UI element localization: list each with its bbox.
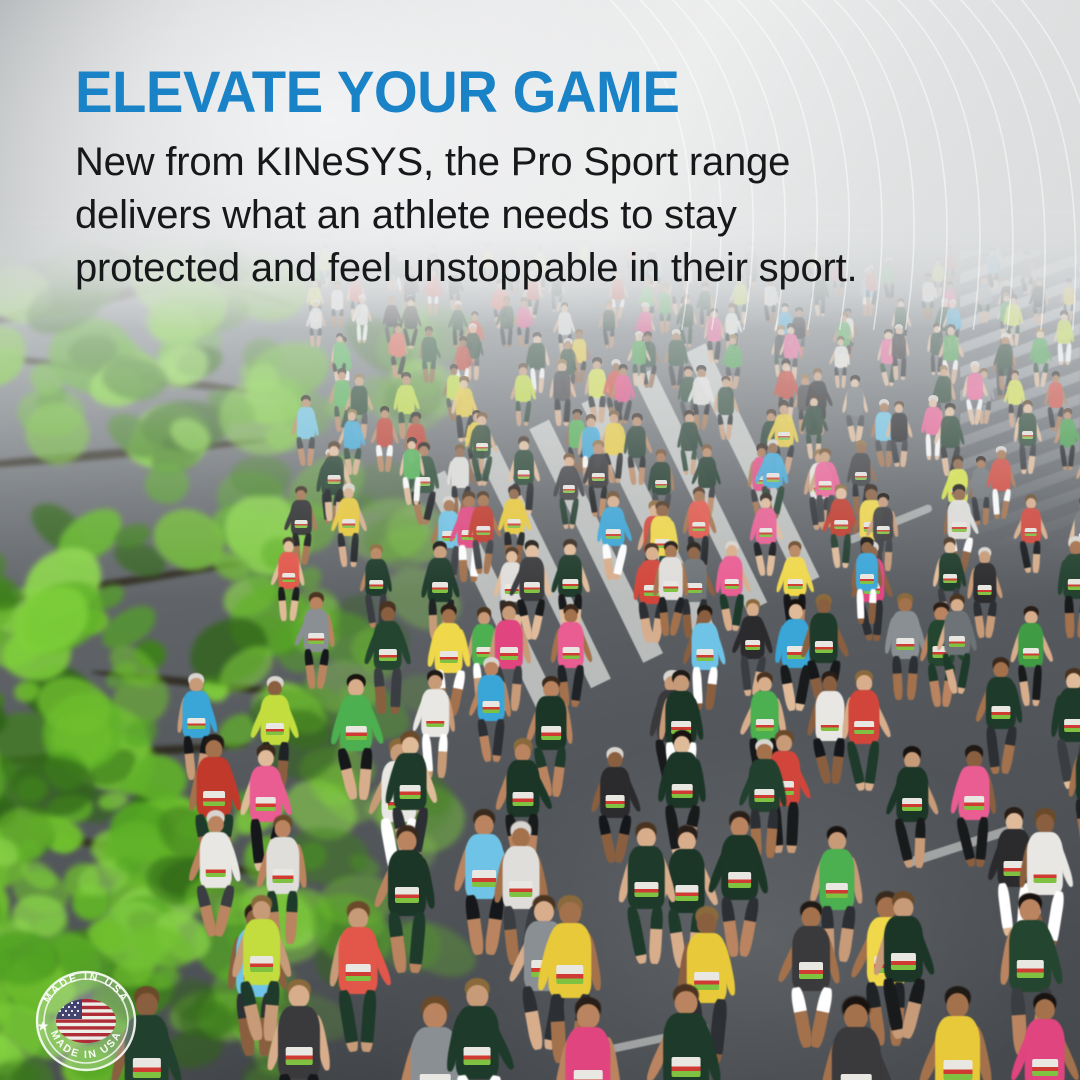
runner-shirt [998,344,1012,369]
runner-shirt [422,337,437,362]
runner-shirt [504,499,524,534]
runner-leg [857,589,866,625]
race-bib [663,581,679,592]
runner-shirt [939,553,961,591]
runner-leg [303,649,316,689]
runner-head [828,832,846,851]
race-bib [606,529,620,539]
runner-leg [627,456,637,486]
runner-leg [914,818,926,869]
race-bib [854,721,874,735]
runner-leg [602,329,609,349]
runner-shirt [243,919,281,984]
runner-shirt [388,850,426,916]
runner-leg [625,905,648,965]
runner-leg [1032,665,1043,706]
race-bib [483,701,500,713]
runner-shirt [183,691,210,738]
runner-shirt [554,371,571,401]
runner-head [894,898,913,919]
runner-shirt [691,623,718,670]
runner-leg [658,597,670,637]
race-bib [728,872,752,888]
runner-shirt [1033,286,1045,307]
runner-leg [408,911,426,973]
runner [711,378,740,450]
runner-leg [1068,445,1076,471]
runner [509,365,537,434]
runner-leg [337,309,343,328]
runner-shirt [266,837,299,895]
race-bib [500,647,518,659]
runner-head [946,993,969,1018]
runner-head [559,902,581,925]
runner-shirt [519,557,544,601]
runner-leg [337,533,349,568]
race-bib [464,1047,491,1065]
runner-shirt [434,623,463,673]
runner-shirt [1060,419,1076,446]
race-bib [574,1070,603,1080]
race-bib [745,640,761,651]
race-bib [692,522,705,531]
runner-shirt [628,846,664,909]
runner-leg [332,309,337,328]
runner-shirt [515,375,531,402]
runner-leg [900,440,908,467]
runner-shirt [967,373,983,401]
runner-shirt [726,313,739,335]
runner-leg [716,414,726,441]
runner-leg [984,600,997,638]
ad-copy: ELEVATE YOUR GAME New from KINeSYS, the … [75,62,1005,295]
runner-leg [854,415,864,442]
runner-leg [523,400,532,426]
runner-shirt [197,757,232,817]
runner-leg [659,312,664,332]
runner [840,377,870,451]
runner-leg [814,298,820,316]
race-bib [778,432,790,440]
runner-shirt [615,375,630,401]
runner-leg [726,414,734,440]
race-bib [855,472,867,480]
runner-shirt [1009,920,1051,992]
runner-shirt [666,752,698,808]
runner-shirt [632,341,646,365]
runner-head [674,736,690,754]
race-bib [815,641,833,653]
race-bib [250,956,274,972]
runner-leg [421,360,429,384]
race-bib [1017,960,1043,978]
runner-shirt [784,557,807,597]
runner [645,986,727,1080]
race-bib [346,964,371,981]
race-bib [964,796,984,809]
runner-head [348,679,364,696]
runner-shirt [652,462,671,494]
race-bib [309,633,325,644]
runner-head [801,907,820,927]
runner [261,981,337,1080]
race-bib [563,485,575,493]
race-bib [282,573,296,582]
body-line-2: delivers what an athlete needs to stay [75,189,1005,242]
runner-leg [1058,343,1064,365]
runner-leg [310,327,315,346]
runner-shirt [291,500,311,535]
runner-leg [649,905,664,964]
runner-shirt [848,690,879,744]
race-bib [897,638,914,650]
runner-leg [517,327,524,347]
race-bib [203,791,225,806]
runner-arm [1075,455,1080,479]
race-bib [1032,1059,1058,1077]
runner-shirt [1021,259,1032,278]
ad-creative: ELEVATE YOUR GAME New from KINeSYS, the … [0,0,1080,1080]
runner-leg [356,323,361,343]
runner-leg [551,746,568,797]
runner-leg [1059,445,1068,471]
runner-leg [610,329,615,349]
runner-leg [1038,305,1046,325]
race-bib [891,953,915,970]
body-copy: New from KINeSYS, the Pro Sport range de… [75,136,1005,295]
runner-leg [890,440,900,467]
runner-shirt [456,1006,499,1080]
runner-leg [385,445,394,472]
runner [1052,312,1077,372]
race-bib [427,715,444,727]
race-bib [562,647,579,658]
race-bib [766,473,779,482]
runner-shirt [992,459,1011,491]
runner-leg [845,415,856,442]
race-bib [370,580,384,589]
runner-leg [476,718,492,762]
runner-shirt [1033,338,1048,364]
runner-shirt [373,621,402,671]
runner-leg [680,449,690,476]
runner-shirt [698,457,716,488]
runner-leg [1065,343,1071,365]
race-bib [524,582,540,593]
race-bib [512,792,533,806]
runner-head [258,750,274,768]
runner-shirt [1063,554,1080,599]
race-bib [672,784,693,798]
runner-head [402,737,418,755]
runner-leg [1028,443,1038,473]
runner-leg [296,437,307,466]
runner-leg [362,323,368,343]
made-in-usa-badge: MADE IN USA MADE IN USA [27,962,145,1080]
runner-leg [812,738,832,785]
race-bib [592,473,604,481]
runner-leg [336,747,358,800]
runner-shirt [1064,287,1074,305]
race-bib [826,883,848,898]
runner [593,493,634,593]
race-bib [755,789,774,802]
runner-leg [829,534,841,569]
runner-head [289,985,310,1008]
runner-shirt [806,406,822,435]
runner-shirt [517,307,529,329]
runner [886,326,912,389]
runner-head [398,831,417,852]
runner-shirt [514,450,534,485]
runner-shirt [422,689,450,737]
race-bib [432,582,448,593]
runner-leg [821,298,825,316]
runner-leg [926,434,933,460]
runner-shirt [310,308,322,329]
race-bib [860,574,874,584]
runner-leg [538,368,545,393]
runner-shirt [304,609,329,652]
runner-shirt [740,616,765,659]
race-bib [943,1060,972,1080]
runner-shirt [602,507,625,547]
runner-shirt [278,1006,320,1079]
race-bib [256,797,277,811]
runner-shirt [1076,750,1080,802]
runner-shirt [500,306,513,329]
runner-leg [500,327,507,348]
runner-shirt [589,454,608,488]
runner-shirt [1058,320,1072,344]
runner-leg [427,295,432,314]
runner-shirt [986,677,1016,729]
race-bib [477,526,490,535]
race-bib [655,480,667,488]
race-bib [205,863,226,877]
runner-leg [1001,489,1012,519]
race-bib [328,475,341,484]
race-bib [1068,579,1080,590]
runner [1028,279,1050,332]
runner-shirt [339,927,378,994]
race-bib [1022,431,1034,439]
runner-shirt [852,453,871,486]
runner-shirt [473,506,494,542]
runner-shirt [427,558,452,602]
runner-leg [1076,596,1080,638]
race-bib [788,579,802,589]
runner-leg [892,357,898,380]
runner-head [844,1004,868,1030]
runner-leg [900,357,906,380]
runner-shirt [891,413,908,442]
race-bib [724,579,739,589]
race-bib [476,443,488,451]
runner-head [675,991,698,1016]
runner-leg [893,818,915,869]
race-bib [286,1047,313,1065]
race-bib [606,795,625,808]
body-line-3: protected and feel unstoppable in their … [75,242,1005,295]
runner-shirt [669,340,684,366]
runner-head [1035,999,1055,1021]
runner-shirt [721,835,758,900]
runner [598,302,620,355]
runner-head [696,913,716,935]
runner-shirt [809,613,838,663]
runner [548,999,629,1080]
race-bib [272,869,293,883]
runner-shirt [376,418,393,447]
race-bib [943,574,957,584]
page-title: ELEVATE YOUR GAME [75,62,977,124]
runner-shirt [394,753,427,810]
runner-leg [337,990,360,1053]
runner-shirt [478,675,505,721]
race-bib [991,706,1010,719]
runner [884,403,914,477]
runner-shirt [945,611,970,655]
runner-head [577,1004,600,1028]
runner-leg [869,588,878,624]
race-bib [379,649,397,661]
runner-shirt [1007,304,1020,327]
runner-shirt [366,559,387,596]
runner-leg [601,544,613,581]
runner-head [207,816,223,834]
runner-shirt [792,926,830,992]
race-bib [509,881,532,897]
race-bib [295,520,308,529]
race-bib [556,965,583,984]
runner-leg [1018,444,1026,474]
race-bib [671,1057,700,1077]
runner-leg [464,895,485,956]
runner-shirt [784,334,798,359]
runner-leg [352,447,362,474]
runner-shirt [693,377,709,405]
race-bib [563,579,578,589]
runner-leg [984,303,990,322]
runner [813,998,900,1080]
runner-leg [402,477,412,505]
race-bib [841,1074,872,1080]
runner-shirt [451,457,469,488]
runner [370,408,400,481]
runner-leg [1064,596,1074,638]
race-bib [759,528,772,537]
runner-leg [612,544,628,581]
runner-leg [278,587,288,622]
race-bib [1024,528,1037,537]
runner [1053,538,1080,652]
runner-head [252,901,271,921]
runner-leg [554,399,562,427]
runner-shirt [688,501,709,538]
runner-shirt [832,1027,880,1080]
race-bib [517,470,530,479]
race-bib [342,519,356,528]
runner-head [512,828,530,848]
runner-leg [480,455,493,485]
runner-leg [434,295,439,314]
runner-shirt [1027,832,1063,895]
runner-shirt [948,500,971,540]
race-bib [949,636,965,647]
race-bib [188,718,205,730]
runner [884,748,941,886]
runner-shirt [261,695,290,745]
runner-leg [1000,725,1018,774]
runner-shirt [1021,508,1041,543]
runner-head [274,820,291,838]
runner-leg [892,656,904,700]
runner-shirt [830,499,852,536]
runner [916,988,999,1080]
runner-shirt [250,766,282,822]
runner-shirt [338,498,360,535]
race-bib [696,649,713,661]
runner-leg [472,539,483,573]
race-bib [1023,648,1039,659]
race-bib [266,723,284,735]
runner [439,980,516,1080]
runner-leg [389,667,401,713]
runner-leg [789,987,813,1049]
runner-shirt [892,334,906,359]
race-bib [541,726,561,739]
runner-head [730,817,749,837]
runner-shirt [884,916,922,982]
runner-shirt [600,767,630,819]
runner [1013,496,1049,584]
runner [305,301,327,354]
runner-leg [974,398,984,424]
runner-shirt [334,342,347,364]
runner-leg [516,401,522,426]
runner-leg [1019,540,1032,573]
runner-leg [707,341,713,363]
race-bib [834,520,848,529]
runner-leg [316,327,322,347]
race-bib [799,962,823,978]
body-line-1: New from KINeSYS, the Pro Sport range [75,136,1005,189]
runner-leg [753,542,767,576]
runner-leg [992,489,1000,519]
runner-head [1020,899,1041,922]
runner-leg [429,360,436,384]
runner-shirt [403,449,420,479]
runner-shirt [726,345,740,368]
runner-shirt [834,346,847,368]
runner-head [349,908,368,929]
race-bib [977,585,992,595]
runner-shirt [391,333,405,357]
race-bib [400,785,421,799]
runner-shirt [1048,382,1063,408]
runner-shirt [846,387,863,416]
race-bib [635,882,658,898]
runner-leg [568,498,579,530]
runner-shirt [199,832,232,888]
runner-shirt [1018,413,1037,445]
race-bib [902,798,922,812]
runner-leg [845,741,867,792]
runner-shirt [762,453,783,489]
race-bib [755,719,773,731]
runner-shirt [278,552,300,589]
